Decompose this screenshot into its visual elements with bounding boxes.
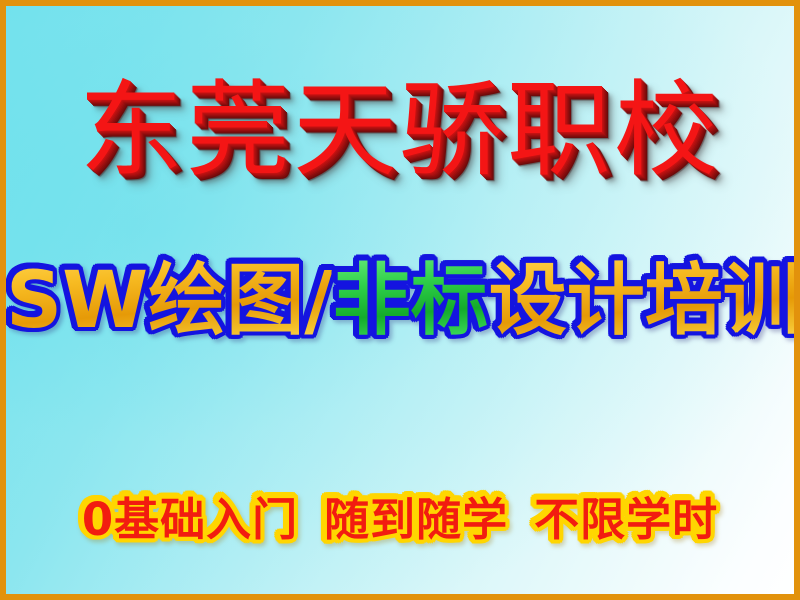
promo-tagline: 0基础入门随到随学不限学时 (6, 495, 794, 545)
promo-slide: 东莞天骄职校 SW绘图/非标设计培训 0基础入门随到随学不限学时 (0, 0, 800, 600)
tagline-part-entry-level: 0基础入门 (82, 495, 298, 545)
subtitle-segment-green: 非标 (333, 258, 489, 345)
subtitle-segment-gold-lead: SW绘图/ (6, 258, 333, 345)
tagline-part-unlimited-hours: 不限学时 (534, 495, 718, 545)
page-title: 东莞天骄职校 (6, 78, 794, 182)
slide-content-stage: 东莞天骄职校 SW绘图/非标设计培训 0基础入门随到随学不限学时 (6, 6, 794, 594)
tagline-part-flexible-start: 随到随学 (324, 495, 508, 545)
subtitle-segment-gold-tail: 设计培训 (489, 258, 800, 345)
course-subtitle: SW绘图/非标设计培训 (6, 258, 794, 345)
